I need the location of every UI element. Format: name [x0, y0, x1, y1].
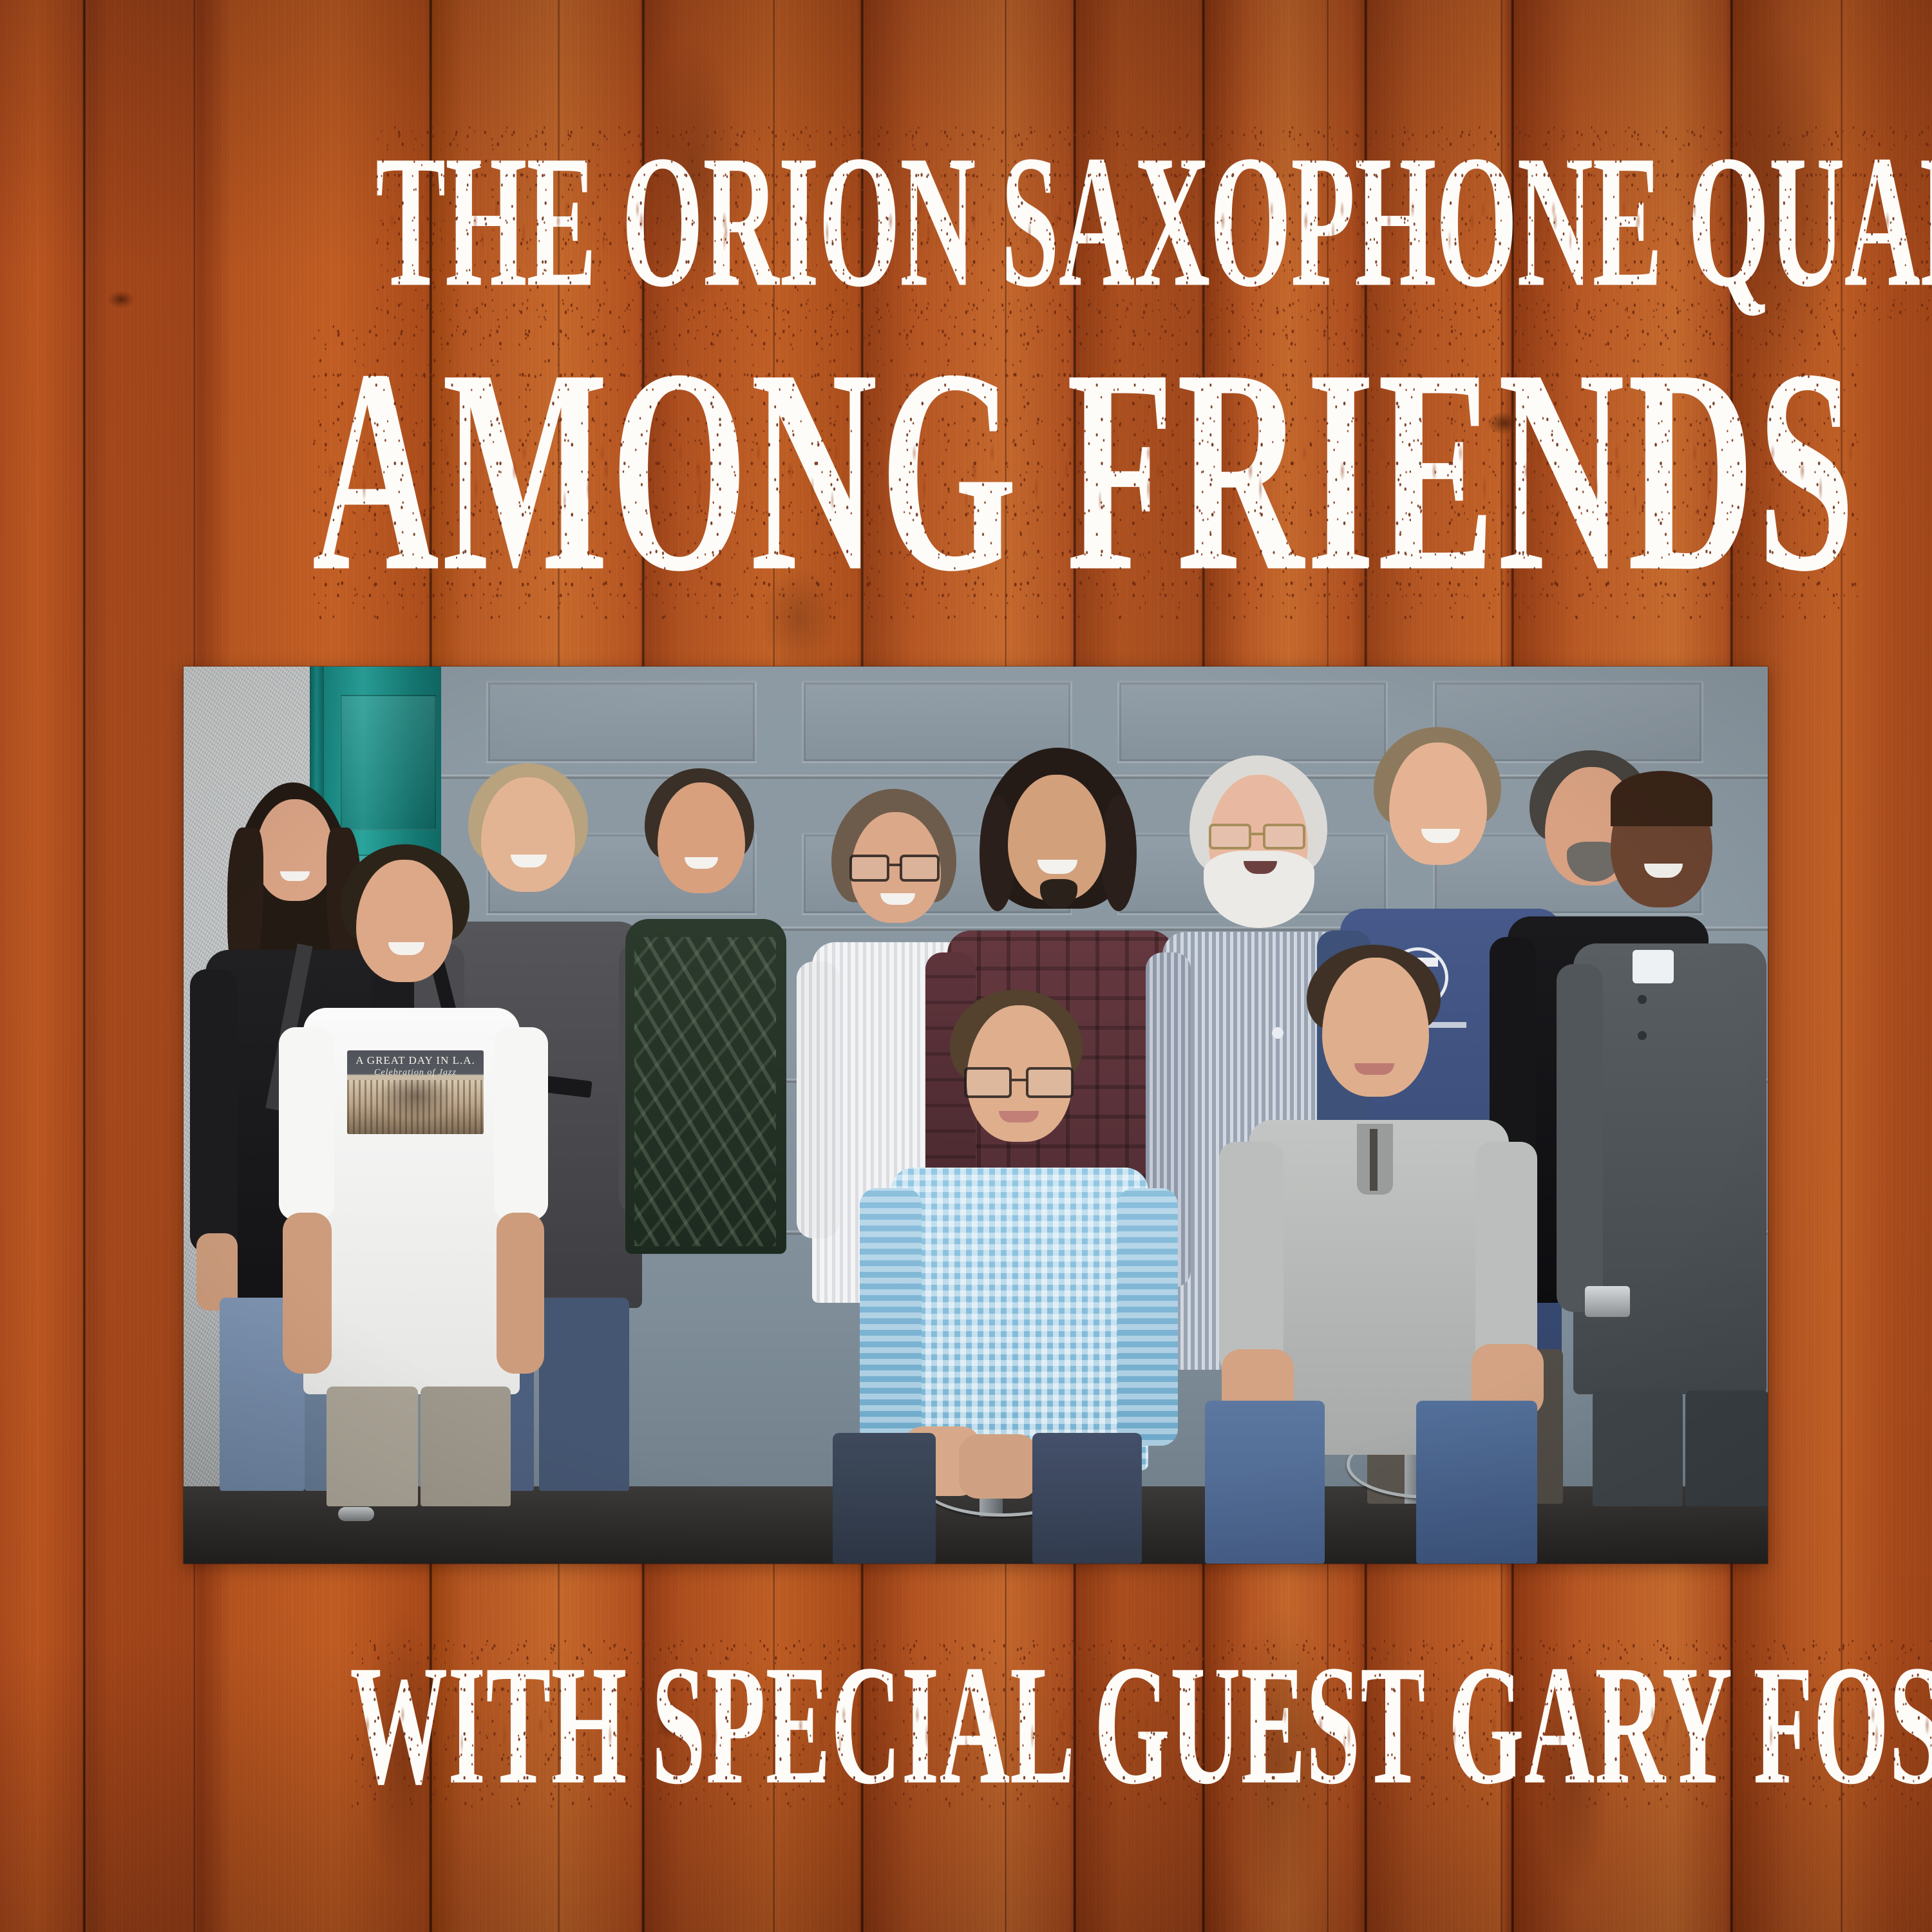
tshirt-graphic-line1: A GREAT DAY IN L.A.: [347, 1054, 484, 1067]
artist-name-heading: THE ORION SAXOPHONE QUARTET: [375, 126, 1557, 316]
wristwatch: [1585, 1286, 1630, 1317]
tshirt-graphic-a-great-day-in-la: A GREAT DAY IN L.A. Celebration of Jazz: [347, 1050, 484, 1134]
guest-artist-heading: WITH SPECIAL GUEST GARY FOSTER: [350, 1640, 1582, 1812]
door-handle: [338, 1507, 374, 1521]
album-title-heading: AMONG FRIENDS: [312, 325, 1620, 616]
guest-artist-text: WITH SPECIAL GUEST GARY FOSTER: [350, 1630, 1932, 1820]
artist-name-text: THE ORION SAXOPHONE QUARTET: [375, 116, 1932, 327]
tshirt-graphic-line2: Celebration of Jazz: [347, 1068, 484, 1078]
album-title-text: AMONG FRIENDS: [312, 309, 1858, 632]
band-group-photograph: A GREAT DAY IN L.A. Celebration of Jazz: [184, 667, 1768, 1564]
album-cover: THE ORION SAXOPHONE QUARTET AMONG FRIEND…: [0, 0, 1932, 1932]
